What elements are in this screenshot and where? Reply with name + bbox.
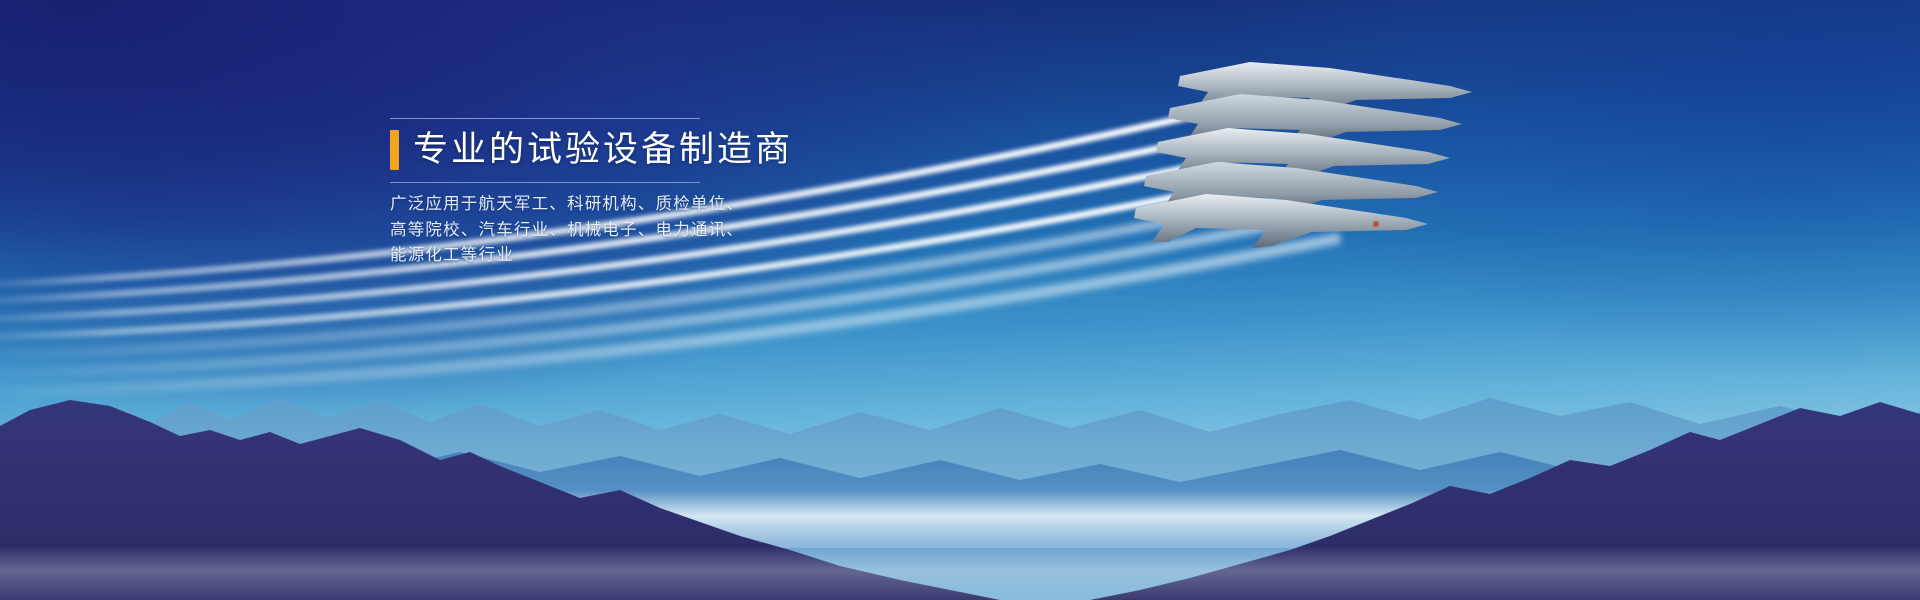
subtitle-line-1: 广泛应用于航天军工、科研机构、质检单位、 <box>390 192 1030 218</box>
accent-bar <box>390 130 399 170</box>
subtitle-line-2: 高等院校、汽车行业、机械电子、电力通讯、 <box>390 218 1030 244</box>
hero-banner: 专业的试验设备制造商 广泛应用于航天军工、科研机构、质检单位、 高等院校、汽车行… <box>0 0 1920 600</box>
banner-copy: 专业的试验设备制造商 广泛应用于航天军工、科研机构、质检单位、 高等院校、汽车行… <box>390 118 1030 269</box>
headline-row: 专业的试验设备制造商 <box>390 129 1030 171</box>
divider-top <box>390 118 700 119</box>
banner-subtitle: 广泛应用于航天军工、科研机构、质检单位、 高等院校、汽车行业、机械电子、电力通讯… <box>390 192 1030 269</box>
page-title: 专业的试验设备制造商 <box>413 129 793 171</box>
divider-bottom <box>390 182 700 183</box>
subtitle-line-3: 能源化工等行业 <box>390 243 1030 269</box>
jet-formation-icon <box>1120 40 1520 270</box>
mountain-range <box>0 340 1920 600</box>
